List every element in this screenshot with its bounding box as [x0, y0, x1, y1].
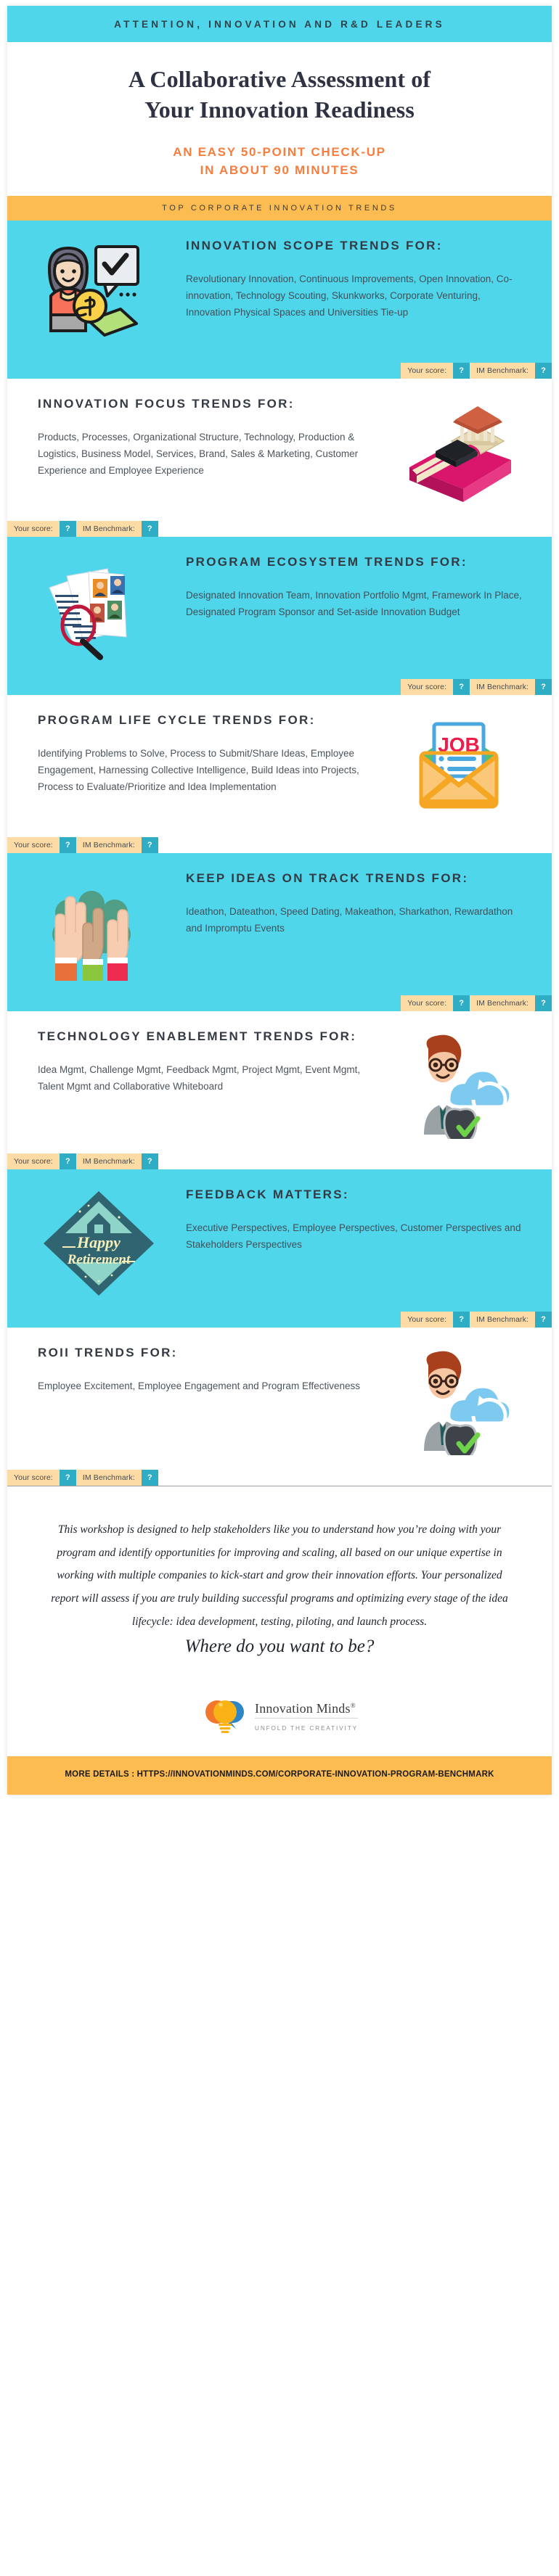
trend-section-body: Designated Innovation Team, Innovation P…: [186, 587, 527, 620]
benchmark-label: IM Benchmark:: [76, 1153, 142, 1169]
registered-mark: ®: [351, 1702, 356, 1709]
trend-section: INNOVATION FOCUS TRENDS FOR:Products, Pr…: [7, 379, 552, 537]
trend-section-title: PROGRAM ECOSYSTEM TRENDS FOR:: [186, 553, 527, 572]
your-score-label: Your score:: [401, 679, 453, 695]
trends-band: TOP CORPORATE INNOVATION TRENDS: [7, 196, 552, 221]
trend-section: KEEP IDEAS ON TRACK TRENDS FOR:Ideathon,…: [7, 853, 552, 1011]
brand-name: Innovation Minds®: [255, 1701, 356, 1716]
trend-section-title: KEEP IDEAS ON TRACK TRENDS FOR:: [186, 869, 527, 889]
trend-section-body: Ideathon, Dateathon, Speed Dating, Makea…: [186, 903, 527, 937]
innovation-minds-bubble-icon: [201, 1698, 248, 1737]
page-title: A Collaborative Assessment of Your Innov…: [36, 64, 523, 125]
trend-section-inner: TECHNOLOGY ENABLEMENT TRENDS FOR:Idea Mg…: [7, 1011, 552, 1146]
benchmark-value[interactable]: ?: [142, 1153, 158, 1169]
trend-section-title: INNOVATION FOCUS TRENDS FOR:: [38, 395, 373, 414]
benchmark-value[interactable]: ?: [535, 679, 552, 695]
trend-section-title: FEEDBACK MATTERS:: [186, 1185, 527, 1205]
your-score-value[interactable]: ?: [453, 1312, 470, 1328]
benchmark-label: IM Benchmark:: [470, 679, 535, 695]
brand-tagline: UNFOLD THE CREATIVITY: [255, 1725, 358, 1732]
trend-section-body: Idea Mgmt, Challenge Mgmt, Feedback Mgmt…: [38, 1061, 373, 1095]
trend-section-copy: TECHNOLOGY ENABLEMENT TRENDS FOR:Idea Mg…: [28, 1027, 386, 1095]
brand-logo: Innovation Minds® UNFOLD THE CREATIVITY: [7, 1670, 552, 1756]
benchmark-label: IM Benchmark:: [470, 1312, 535, 1328]
trend-section-copy: PROGRAM ECOSYSTEM TRENDS FOR:Designated …: [173, 553, 531, 620]
graduation-book-university-icon: [386, 395, 531, 506]
trend-section-inner: ROII TRENDS FOR:Employee Excitement, Emp…: [7, 1328, 552, 1462]
man-cloud-shield-icon: [386, 1027, 531, 1139]
benchmark-value[interactable]: ?: [535, 995, 552, 1011]
score-strip: Your score:?IM Benchmark:?: [7, 1153, 552, 1169]
page-title-line1: A Collaborative Assessment of: [36, 64, 523, 94]
benchmark-value[interactable]: ?: [142, 521, 158, 537]
your-score-value[interactable]: ?: [60, 1153, 76, 1169]
footer-url-text[interactable]: MORE DETAILS : HTTPS://INNOVATIONMINDS.C…: [65, 1770, 494, 1779]
trend-section: ROII TRENDS FOR:Employee Excitement, Emp…: [7, 1328, 552, 1486]
trend-section: Happy Retirement FEEDBACK MATTERS:Execut…: [7, 1169, 552, 1328]
trend-sections: INNOVATION SCOPE TRENDS FOR:Revolutionar…: [7, 221, 552, 1486]
your-score-value[interactable]: ?: [60, 1470, 76, 1486]
trend-section-inner: Happy Retirement FEEDBACK MATTERS:Execut…: [7, 1169, 552, 1304]
score-strip: Your score:?IM Benchmark:?: [7, 1470, 552, 1486]
hero-block: A Collaborative Assessment of Your Innov…: [7, 42, 552, 196]
resumes-magnifier-icon: [28, 553, 173, 664]
score-strip: Your score:?IM Benchmark:?: [7, 1312, 552, 1328]
trend-section-inner: JOB PROGRAM LIFE CYCLE TRENDS FOR:Identi…: [7, 695, 552, 830]
trend-section-copy: KEEP IDEAS ON TRACK TRENDS FOR:Ideathon,…: [173, 869, 531, 937]
benchmark-value[interactable]: ?: [142, 1470, 158, 1486]
score-strip: Your score:?IM Benchmark:?: [7, 995, 552, 1011]
page-title-line2: Your Innovation Readiness: [36, 94, 523, 125]
benchmark-label: IM Benchmark:: [470, 363, 535, 379]
trend-section-inner: INNOVATION SCOPE TRENDS FOR:Revolutionar…: [7, 221, 552, 355]
trend-section-copy: INNOVATION SCOPE TRENDS FOR:Revolutionar…: [173, 236, 531, 321]
your-score-label: Your score:: [401, 363, 453, 379]
your-score-value[interactable]: ?: [453, 995, 470, 1011]
score-strip: Your score:?IM Benchmark:?: [7, 363, 552, 379]
trend-section-inner: PROGRAM ECOSYSTEM TRENDS FOR:Designated …: [7, 537, 552, 672]
trend-section: PROGRAM ECOSYSTEM TRENDS FOR:Designated …: [7, 537, 552, 695]
page-subtitle: AN EASY 50-POINT CHECK-UP IN ABOUT 90 MI…: [36, 144, 523, 179]
score-strip: Your score:?IM Benchmark:?: [7, 521, 552, 537]
trend-section: JOB PROGRAM LIFE CYCLE TRENDS FOR:Identi…: [7, 695, 552, 853]
trend-section-inner: KEEP IDEAS ON TRACK TRENDS FOR:Ideathon,…: [7, 853, 552, 988]
eyebrow-band: ATTENTION, INNOVATION AND R&D LEADERS: [7, 6, 552, 42]
benchmark-label: IM Benchmark:: [76, 837, 142, 853]
your-score-value[interactable]: ?: [60, 521, 76, 537]
score-strip: Your score:?IM Benchmark:?: [7, 679, 552, 695]
logo-divider: [255, 1718, 358, 1719]
brand-logo-text: Innovation Minds® UNFOLD THE CREATIVITY: [255, 1701, 358, 1734]
trend-section: TECHNOLOGY ENABLEMENT TRENDS FOR:Idea Mg…: [7, 1011, 552, 1169]
infographic-sheet: ATTENTION, INNOVATION AND R&D LEADERS A …: [7, 6, 552, 1795]
benchmark-value[interactable]: ?: [535, 1312, 552, 1328]
trend-section-copy: PROGRAM LIFE CYCLE TRENDS FOR:Identifyin…: [28, 711, 386, 796]
your-score-value[interactable]: ?: [453, 679, 470, 695]
your-score-label: Your score:: [7, 837, 60, 853]
benchmark-value[interactable]: ?: [142, 837, 158, 853]
happy-retirement-badge-icon: Happy Retirement: [28, 1185, 173, 1297]
score-strip: Your score:?IM Benchmark:?: [7, 837, 552, 853]
page-subtitle-line2: IN ABOUT 90 MINUTES: [36, 162, 523, 180]
woman-with-checklist-and-coin-icon: [28, 236, 173, 348]
trend-section-title: TECHNOLOGY ENABLEMENT TRENDS FOR:: [38, 1027, 373, 1047]
benchmark-value[interactable]: ?: [535, 363, 552, 379]
trend-section-body: Revolutionary Innovation, Continuous Imp…: [186, 271, 527, 321]
your-score-label: Your score:: [7, 1153, 60, 1169]
your-score-value[interactable]: ?: [60, 837, 76, 853]
trend-section-body: Employee Excitement, Employee Engagement…: [38, 1378, 373, 1394]
man-cloud-shield-icon: [386, 1343, 531, 1455]
your-score-value[interactable]: ?: [453, 363, 470, 379]
closing-block: This workshop is designed to help stakeh…: [7, 1486, 552, 1670]
eyebrow-text: ATTENTION, INNOVATION AND R&D LEADERS: [114, 19, 445, 30]
trend-section-body: Products, Processes, Organizational Stru…: [38, 429, 373, 480]
svg-text:Happy: Happy: [76, 1233, 121, 1251]
trend-section: INNOVATION SCOPE TRENDS FOR:Revolutionar…: [7, 221, 552, 379]
trend-section-inner: INNOVATION FOCUS TRENDS FOR:Products, Pr…: [7, 379, 552, 514]
svg-text:Retirement: Retirement: [67, 1252, 131, 1267]
infographic-page: ATTENTION, INNOVATION AND R&D LEADERS A …: [0, 0, 559, 2576]
trend-section-copy: FEEDBACK MATTERS:Executive Perspectives,…: [173, 1185, 531, 1253]
trend-section-body: Executive Perspectives, Employee Perspec…: [186, 1219, 527, 1253]
closing-question: Where do you want to be?: [42, 1637, 517, 1657]
trend-section-body: Identifying Problems to Solve, Process t…: [38, 745, 373, 796]
raised-hands-icon: [28, 869, 173, 981]
footer-band: MORE DETAILS : HTTPS://INNOVATIONMINDS.C…: [7, 1756, 552, 1795]
trend-section-title: INNOVATION SCOPE TRENDS FOR:: [186, 236, 527, 256]
your-score-label: Your score:: [401, 995, 453, 1011]
your-score-label: Your score:: [7, 521, 60, 537]
trend-section-copy: INNOVATION FOCUS TRENDS FOR:Products, Pr…: [28, 395, 386, 480]
job-envelope-icon: JOB: [386, 711, 531, 823]
trends-band-label: TOP CORPORATE INNOVATION TRENDS: [162, 204, 397, 213]
your-score-label: Your score:: [401, 1312, 453, 1328]
closing-paragraph: This workshop is designed to help stakeh…: [42, 1518, 517, 1634]
benchmark-label: IM Benchmark:: [470, 995, 535, 1011]
trend-section-title: ROII TRENDS FOR:: [38, 1343, 373, 1363]
page-subtitle-line1: AN EASY 50-POINT CHECK-UP: [36, 144, 523, 162]
trend-section-copy: ROII TRENDS FOR:Employee Excitement, Emp…: [28, 1343, 386, 1394]
benchmark-label: IM Benchmark:: [76, 521, 142, 537]
benchmark-label: IM Benchmark:: [76, 1470, 142, 1486]
trend-section-title: PROGRAM LIFE CYCLE TRENDS FOR:: [38, 711, 373, 731]
your-score-label: Your score:: [7, 1470, 60, 1486]
